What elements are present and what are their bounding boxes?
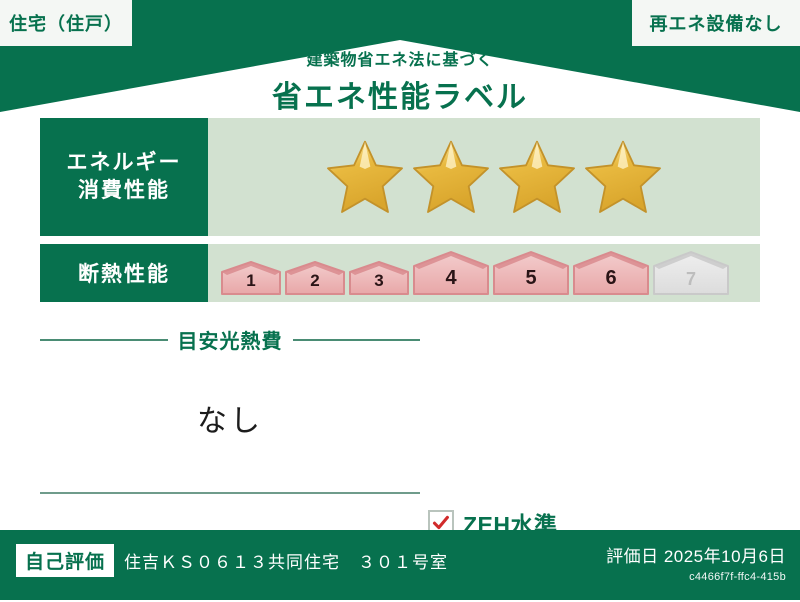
insulation-level-5: 5 [492,250,570,296]
footer-right: 評価日 2025年10月6日 c4466f7f-ffc4-415b [606,542,786,583]
document-id: c4466f7f-ffc4-415b [606,571,786,583]
energy-label-line1: エネルギー [67,149,182,177]
insulation-performance-label-box: 断熱性能 [40,244,208,302]
energy-performance-row: エネルギー 消費性能 [40,118,760,236]
header-subtitle: 建築物省エネ法に基づく [0,46,800,70]
tag-renewable-equipment: 再エネ設備なし [632,0,800,46]
rule-right [293,339,421,341]
energy-label-line2: 消費性能 [78,177,170,205]
page-title: 省エネ性能ラベル [0,72,800,116]
header-text: 建築物省エネ法に基づく 省エネ性能ラベル [0,46,800,116]
evaluation-date: 評価日 2025年10月6日 [606,542,786,567]
star-rating [324,137,664,217]
insulation-level-2: 2 [284,260,346,296]
footer-left: 自己評価 住吉ＫＳ０６１３共同住宅 ３０１号室 [16,544,448,577]
insulation-level-3: 3 [348,260,410,296]
insulation-label: 断熱性能 [78,258,170,288]
star-icon [496,137,578,217]
tag-housing-type: 住宅（住戸） [0,0,132,46]
building-name: 住吉ＫＳ０６１３共同住宅 ３０１号室 [124,548,448,573]
utility-cost-heading: 目安光熱費 [40,325,420,354]
label-body: エネルギー 消費性能 断熱性能 1234567 目安光熱費 なし [0,140,800,530]
insulation-level-scale: 1234567 [220,250,730,296]
insulation-performance-row: 断熱性能 1234567 [40,244,760,302]
star-icon [582,137,664,217]
energy-performance-label-box: エネルギー 消費性能 [40,118,208,236]
utility-cost-heading-label: 目安光熱費 [178,325,283,354]
tag-housing-type-label: 住宅（住戸） [9,10,123,36]
rule-left [40,339,168,341]
star-icon [410,137,492,217]
insulation-level-1: 1 [220,260,282,296]
utility-cost-block: 目安光熱費 なし [40,325,420,440]
energy-performance-value [208,118,760,236]
energy-performance-label: 住宅（住戸） 再エネ設備なし 建築物省エネ法に基づく 省エネ性能ラベル エネルギ… [0,0,800,600]
footer: 自己評価 住吉ＫＳ０６１３共同住宅 ３０１号室 評価日 2025年10月6日 c… [0,530,800,600]
tag-renewable-equipment-label: 再エネ設備なし [650,10,783,36]
insulation-level-6: 6 [572,250,650,296]
utility-cost-underline [40,492,420,494]
star-icon [324,137,406,217]
insulation-performance-value: 1234567 [208,244,760,302]
utility-cost-value: なし [40,396,420,440]
self-evaluation-badge: 自己評価 [16,544,114,577]
insulation-level-4: 4 [412,250,490,296]
insulation-level-7: 7 [652,250,730,296]
